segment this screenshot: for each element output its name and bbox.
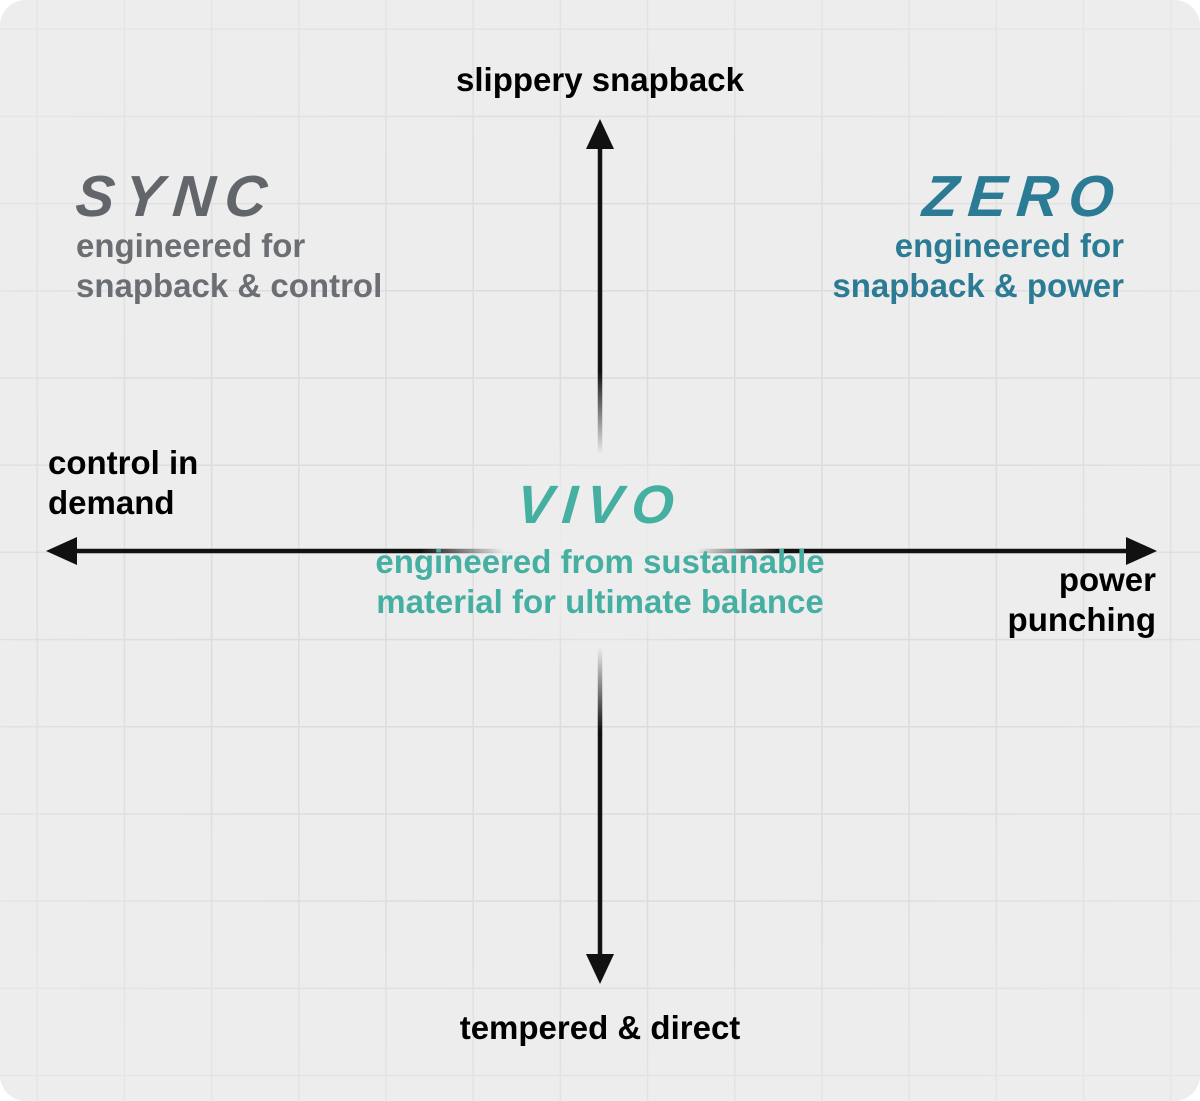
axis-label-bottom: tempered & direct bbox=[0, 1008, 1200, 1048]
quadrant-sync-tagline: engineered for snapback & control bbox=[76, 226, 382, 307]
quadrant-vivo-tagline-line2: material for ultimate balance bbox=[0, 582, 1200, 622]
quadrant-sync: SYNC engineered for snapback & control bbox=[76, 168, 382, 307]
axis-label-left-line1: control in bbox=[48, 443, 198, 483]
quadrant-vivo: VIVO engineered from sustainable materia… bbox=[0, 478, 1200, 623]
quadrant-zero: ZERO engineered for snapback & power bbox=[832, 168, 1124, 307]
quadrant-vivo-tagline: engineered from sustainable material for… bbox=[0, 542, 1200, 623]
quadrant-vivo-brand: VIVO bbox=[0, 478, 1200, 532]
axis-label-top: slippery snapback bbox=[0, 60, 1200, 100]
quadrant-sync-tagline-line1: engineered for bbox=[76, 226, 382, 266]
positioning-matrix-diagram: slippery snapback tempered & direct cont… bbox=[0, 0, 1200, 1101]
quadrant-sync-brand: SYNC bbox=[73, 168, 384, 226]
quadrant-zero-brand: ZERO bbox=[830, 168, 1127, 226]
quadrant-zero-tagline-line1: engineered for bbox=[832, 226, 1124, 266]
quadrant-zero-tagline: engineered for snapback & power bbox=[832, 226, 1124, 307]
quadrant-zero-tagline-line2: snapback & power bbox=[832, 266, 1124, 306]
quadrant-vivo-tagline-line1: engineered from sustainable bbox=[0, 542, 1200, 582]
quadrant-sync-tagline-line2: snapback & control bbox=[76, 266, 382, 306]
